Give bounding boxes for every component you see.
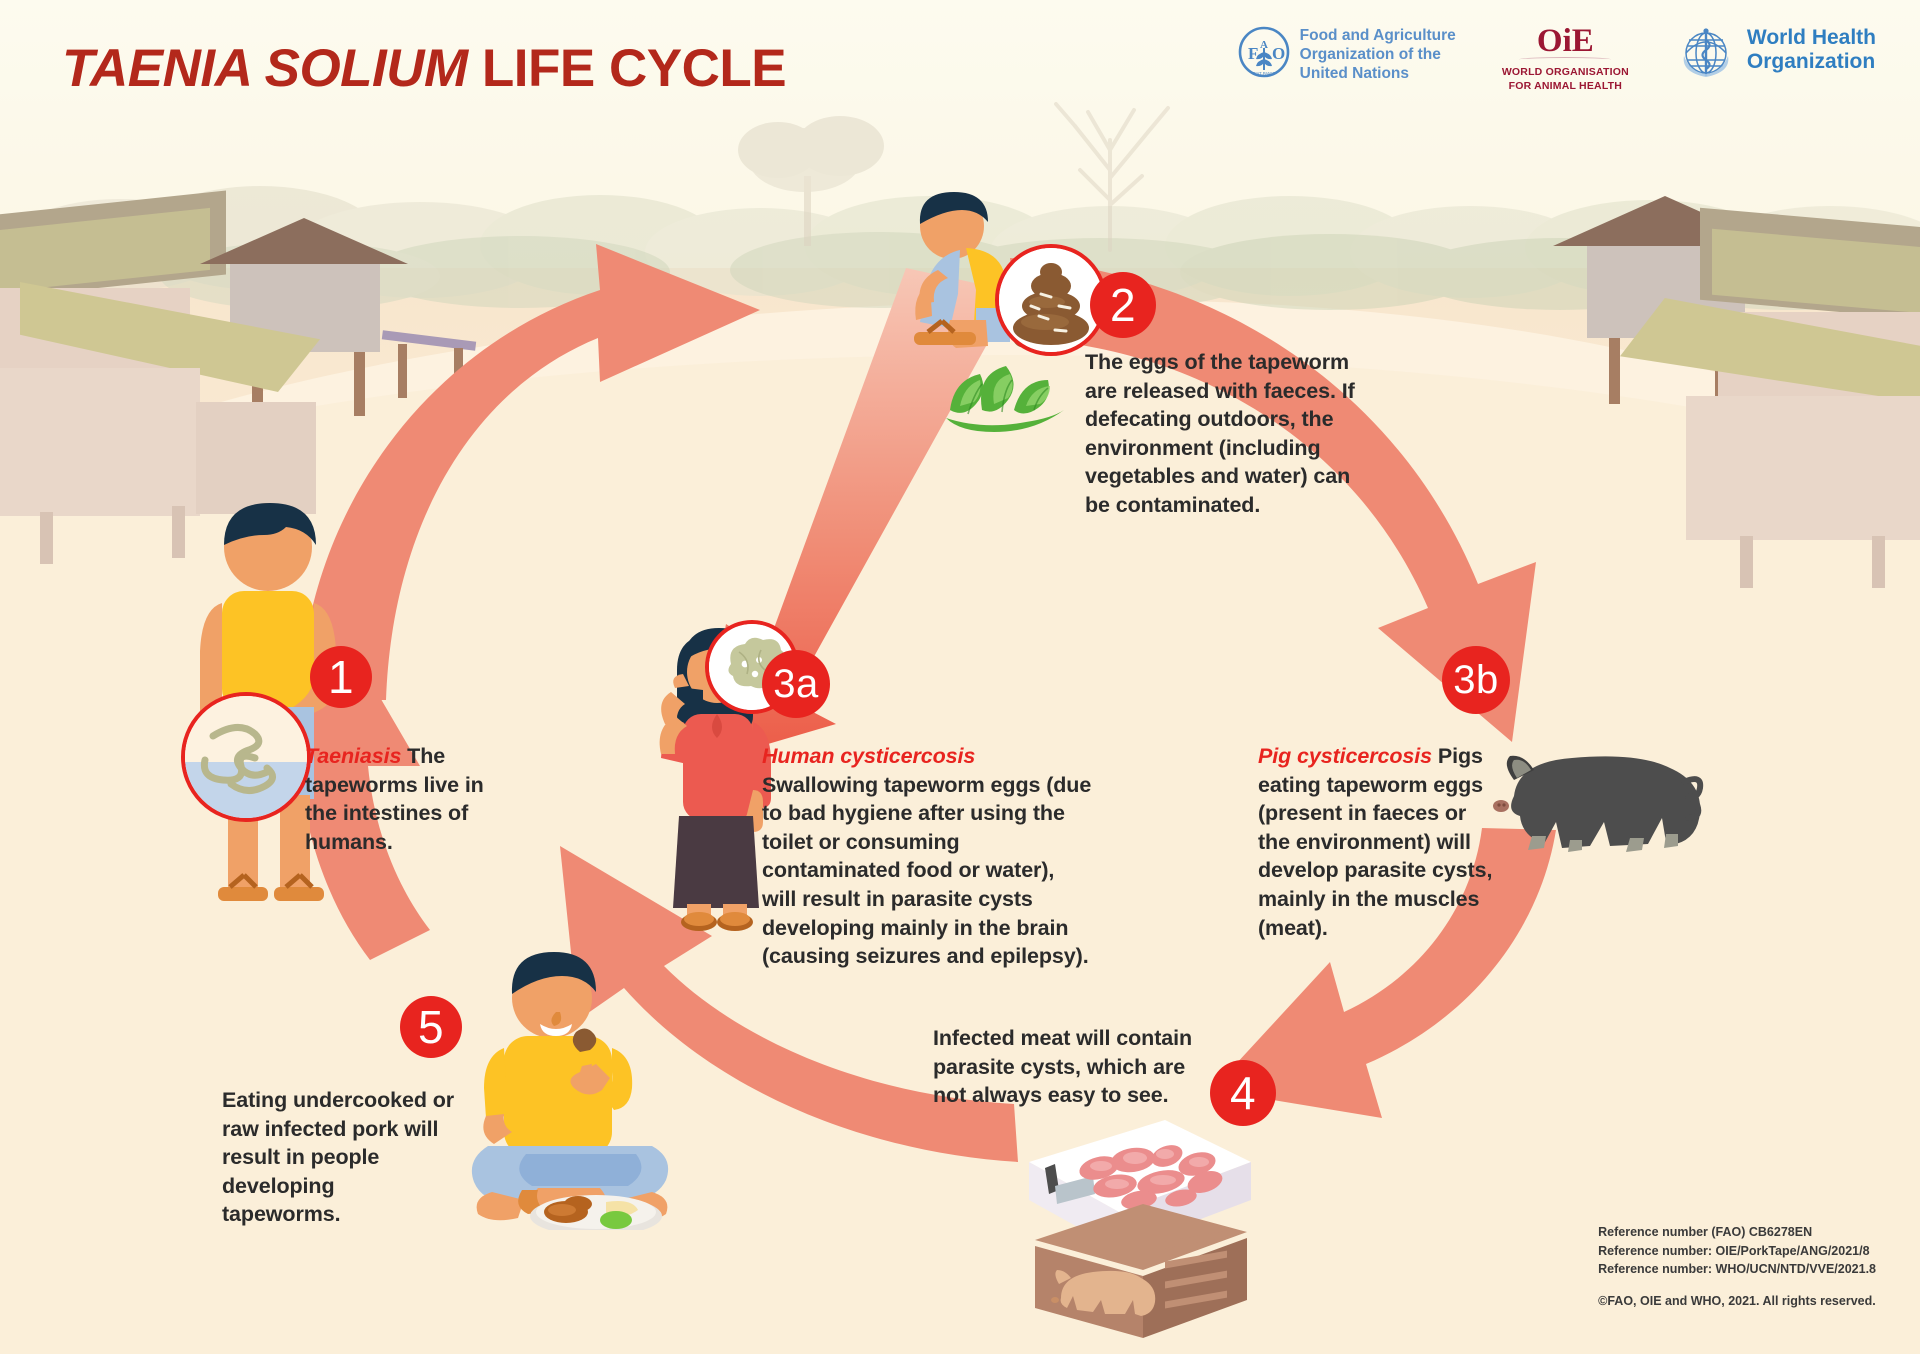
who-emblem-icon	[1675, 26, 1737, 84]
title-italic-part: TAENIA SOLIUM	[62, 39, 468, 98]
step-badge-2-label: 2	[1110, 278, 1136, 332]
step-badge-3a: 3a	[762, 650, 830, 718]
step-badge-3a-label: 3a	[773, 662, 819, 707]
oie-wordmark: OiE	[1537, 26, 1594, 57]
copyright-notice: ©FAO, OIE and WHO, 2021. All rights rese…	[1598, 1292, 1876, 1311]
step-4-body: Infected meat will contain parasite cyst…	[933, 1026, 1192, 1107]
illustration-pig	[1470, 740, 1720, 870]
reference-who: Reference number: WHO/UCN/NTD/VVE/2021.8	[1598, 1260, 1876, 1279]
step-text-1: Taeniasis The tapeworms live in the inte…	[305, 742, 520, 856]
step-badge-1: 1	[310, 646, 372, 708]
title-upright-part: LIFE CYCLE	[468, 39, 786, 98]
step-badge-1-label: 1	[328, 650, 354, 704]
step-badge-2: 2	[1090, 272, 1156, 338]
svg-text:O: O	[1272, 44, 1285, 63]
oie-logo-line1: WORLD ORGANISATION	[1502, 66, 1629, 78]
oie-logo-line2: FOR ANIMAL HEALTH	[1509, 80, 1622, 92]
step-badge-5-label: 5	[418, 1000, 444, 1054]
magnifier-tapeworm-intestines	[181, 692, 311, 822]
reference-block: Reference number (FAO) CB6278EN Referenc…	[1598, 1223, 1876, 1310]
step-text-4: Infected meat will contain parasite cyst…	[933, 1024, 1223, 1110]
infographic-canvas: TAENIA SOLIUM LIFE CYCLE F O A FIAT PANI…	[0, 0, 1920, 1354]
step-badge-3b-label: 3b	[1453, 658, 1499, 703]
fao-logo-text: Food and AgricultureOrganization of theU…	[1300, 26, 1456, 84]
reference-oie: Reference number: OIE/PorkTape/ANG/2021/…	[1598, 1242, 1876, 1261]
step-text-3b: Pig cysticercosis Pigs eating tapeworm e…	[1258, 742, 1493, 942]
step-text-5: Eating undercooked or raw infected pork …	[222, 1086, 457, 1229]
step-1-emphasis: Taeniasis	[305, 744, 401, 768]
logo-row: F O A FIAT PANIS Food and AgricultureOrg…	[1238, 26, 1876, 92]
fao-logo: F O A FIAT PANIS Food and AgricultureOrg…	[1238, 26, 1456, 84]
step-5-body: Eating undercooked or raw infected pork …	[222, 1088, 454, 1226]
step-text-2: The eggs of the tapeworm are released wi…	[1085, 348, 1360, 520]
step-text-3a: Human cysticercosis Swallowing tapeworm …	[762, 742, 1092, 971]
step-badge-5: 5	[400, 996, 462, 1058]
step-badge-4-label: 4	[1230, 1066, 1256, 1120]
illustration-vegetables	[930, 348, 1080, 434]
step-3a-body: Swallowing tapeworm eggs (due to bad hyg…	[762, 773, 1091, 969]
who-logo-line1: World Health	[1747, 26, 1876, 49]
step-3a-emphasis: Human cysticercosis	[762, 744, 975, 768]
svg-text:FIAT PANIS: FIAT PANIS	[1253, 71, 1275, 76]
who-logo: World Health Organization	[1675, 26, 1876, 84]
step-3b-body: Pigs eating tapeworm eggs (present in fa…	[1258, 744, 1492, 940]
who-logo-line2: Organization	[1747, 50, 1875, 73]
illustration-man-eating	[430, 940, 730, 1230]
illustration-meat-counter	[1015, 1090, 1265, 1340]
fao-emblem-icon: F O A FIAT PANIS	[1238, 26, 1290, 78]
reference-fao: Reference number (FAO) CB6278EN	[1598, 1223, 1876, 1242]
step-3b-emphasis: Pig cysticercosis	[1258, 744, 1432, 768]
page-title: TAENIA SOLIUM LIFE CYCLE	[62, 38, 786, 99]
svg-text:F: F	[1248, 44, 1258, 63]
hut-right-thatch	[1620, 288, 1920, 548]
step-badge-3b: 3b	[1442, 646, 1510, 714]
who-logo-text: World Health Organization	[1747, 26, 1876, 73]
step-2-body: The eggs of the tapeworm are released wi…	[1085, 350, 1355, 517]
oie-logo: OiE WORLD ORGANISATION FOR ANIMAL HEALTH	[1502, 26, 1629, 92]
